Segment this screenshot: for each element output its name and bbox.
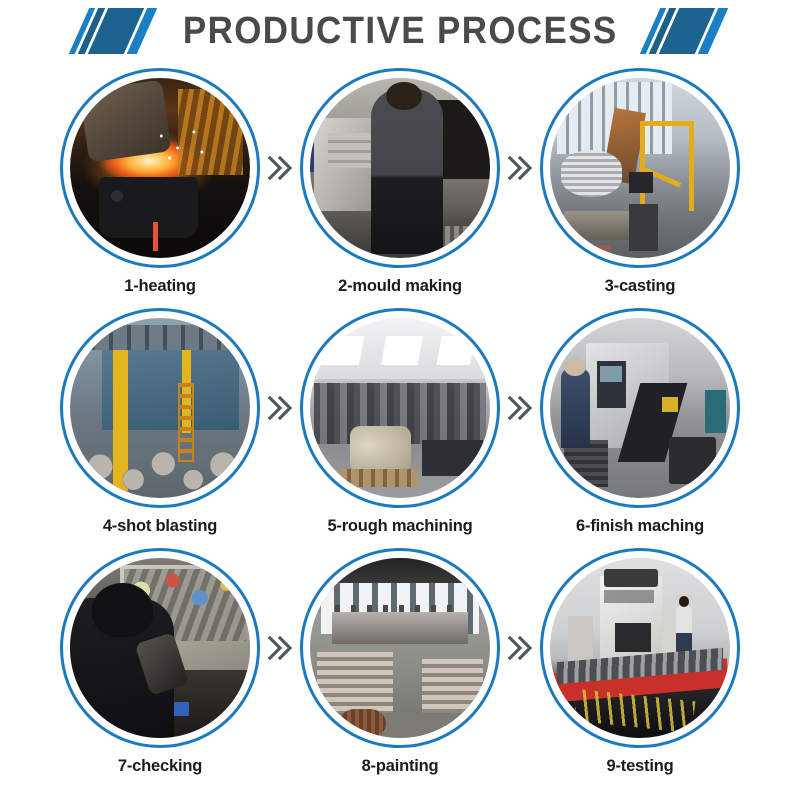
page-header: PRODUCTIVE PROCESS	[0, 0, 800, 62]
operator-body-shape	[561, 368, 590, 447]
stacked-parts-left-shape	[317, 652, 393, 713]
shot-blasting-photo	[70, 318, 250, 498]
process-step-4[interactable]: 4-shot blasting	[55, 308, 265, 536]
step-label-8: 8-painting	[362, 757, 439, 776]
stacked-parts-right-shape	[422, 659, 483, 713]
step-circle-2[interactable]	[300, 68, 500, 268]
steel-coil-shape	[561, 150, 622, 197]
press-model-label-shape	[604, 590, 654, 603]
material-bags-shape	[350, 426, 411, 473]
process-step-1[interactable]: 1-heating	[55, 68, 265, 296]
process-step-2[interactable]: 2-mould making	[295, 68, 505, 296]
finish-maching-photo	[550, 318, 730, 498]
process-row-3: 7-checking 8-paintin	[0, 548, 800, 788]
press-arm-shape	[604, 569, 658, 587]
process-step-5[interactable]: 5-rough machining	[295, 308, 505, 536]
process-grid: 1-heating 2-mould making	[0, 62, 800, 788]
step-circle-1[interactable]	[60, 68, 260, 268]
step-label-5: 5-rough machining	[327, 517, 472, 536]
process-arrow-4	[505, 308, 535, 508]
heating-photo	[70, 78, 250, 258]
yellow-detail-shape	[662, 397, 678, 411]
step-label-4: 4-shot blasting	[103, 517, 217, 536]
process-row-2: 4-shot blasting 5-rough machining	[0, 308, 800, 548]
step-circle-5[interactable]	[300, 308, 500, 508]
process-arrow-2	[505, 68, 535, 268]
inspector-cap-shape	[92, 583, 153, 637]
process-arrow-6	[505, 548, 535, 748]
page-title: PRODUCTIVE PROCESS	[170, 12, 630, 50]
pallet-shape	[339, 469, 418, 487]
operator-head-shape	[564, 358, 586, 376]
press-die-shape	[615, 623, 651, 652]
casting-photo	[550, 78, 730, 258]
chip-bin-shape	[669, 437, 716, 484]
hot-rod-shape	[153, 222, 158, 251]
yellow-railing-shape	[640, 121, 694, 211]
cnc-control-panel-shape	[597, 361, 626, 408]
process-step-8[interactable]: 8-painting	[295, 548, 505, 776]
checking-photo	[70, 558, 250, 738]
step-label-9: 9-testing	[607, 757, 674, 776]
worker-body-shape	[371, 89, 443, 255]
wheel-castings-shape	[77, 422, 243, 494]
paint-rig-shape	[332, 612, 469, 644]
rough-machining-photo	[310, 318, 490, 498]
header-decoration-left	[79, 8, 150, 54]
header-decoration-right	[650, 8, 721, 54]
mould-making-photo	[310, 78, 490, 258]
chain-shape	[574, 689, 696, 734]
step-circle-9[interactable]	[540, 548, 740, 748]
ceiling-lights-shape	[321, 336, 479, 365]
process-arrow-3	[265, 308, 295, 508]
step-circle-6[interactable]	[540, 308, 740, 508]
step-label-3: 3-casting	[605, 277, 676, 296]
floor-shape	[310, 713, 490, 738]
step-label-1: 1-heating	[124, 277, 196, 296]
step-circle-4[interactable]	[60, 308, 260, 508]
sparks-shape	[156, 128, 210, 168]
process-row-1: 1-heating 2-mould making	[0, 68, 800, 308]
step-label-7: 7-checking	[118, 757, 202, 776]
floor-marking-shape	[564, 245, 611, 254]
cable-drum-shape	[339, 709, 386, 738]
testing-photo	[550, 558, 730, 738]
dark-equipment-shape	[422, 440, 483, 476]
process-step-6[interactable]: 6-finish maching	[535, 308, 745, 536]
process-step-9[interactable]: 9-testing	[535, 548, 745, 776]
step-label-2: 2-mould making	[338, 277, 462, 296]
crucible-shape	[99, 177, 198, 238]
step-circle-8[interactable]	[300, 548, 500, 748]
process-arrow-5	[265, 548, 295, 748]
process-step-7[interactable]: 7-checking	[55, 548, 265, 776]
desk-shape	[629, 204, 658, 251]
monitor-shape	[629, 172, 652, 194]
painting-photo	[310, 558, 490, 738]
step-circle-3[interactable]	[540, 68, 740, 268]
step-label-6: 6-finish maching	[576, 517, 704, 536]
step-circle-7[interactable]	[60, 548, 260, 748]
teal-equipment-shape	[705, 390, 727, 433]
process-arrow-1	[265, 68, 295, 268]
overhead-beams-shape	[77, 325, 243, 350]
worker-head-shape	[386, 82, 422, 111]
process-step-3[interactable]: 3-casting	[535, 68, 745, 296]
